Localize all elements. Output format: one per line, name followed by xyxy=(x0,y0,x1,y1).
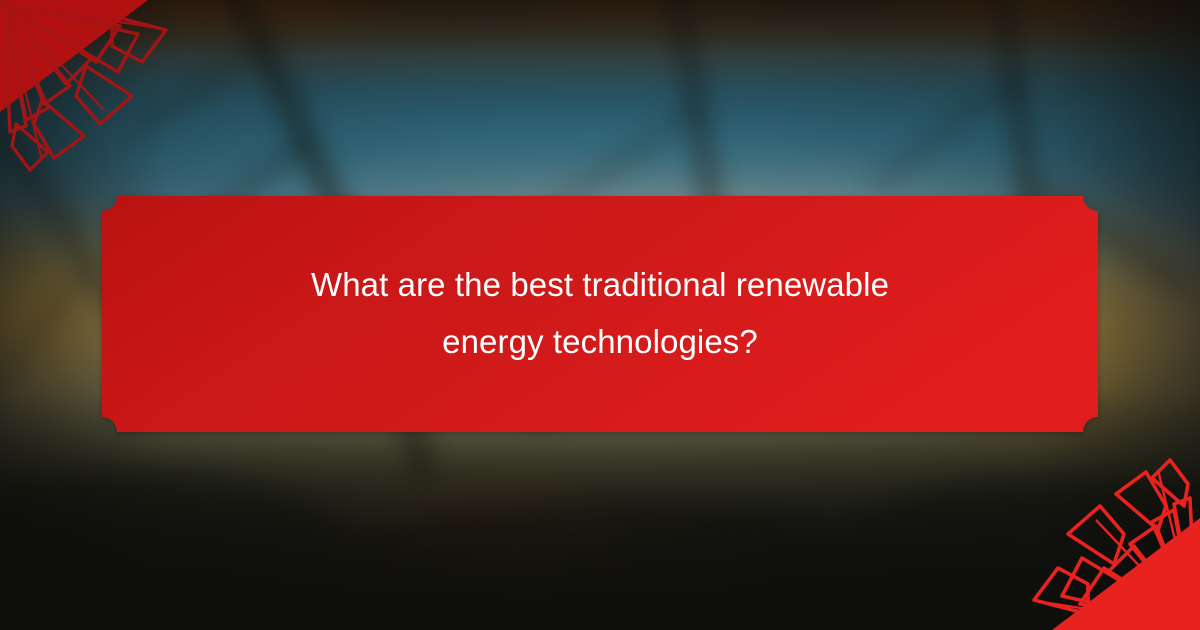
question-title: What are the best traditional renewable … xyxy=(311,257,889,371)
question-card: What are the best traditional renewable … xyxy=(102,196,1098,432)
share-card-canvas: What are the best traditional renewable … xyxy=(0,0,1200,630)
corner-ornament-top-left xyxy=(0,0,230,210)
corner-ornament-bottom-right xyxy=(970,420,1200,630)
